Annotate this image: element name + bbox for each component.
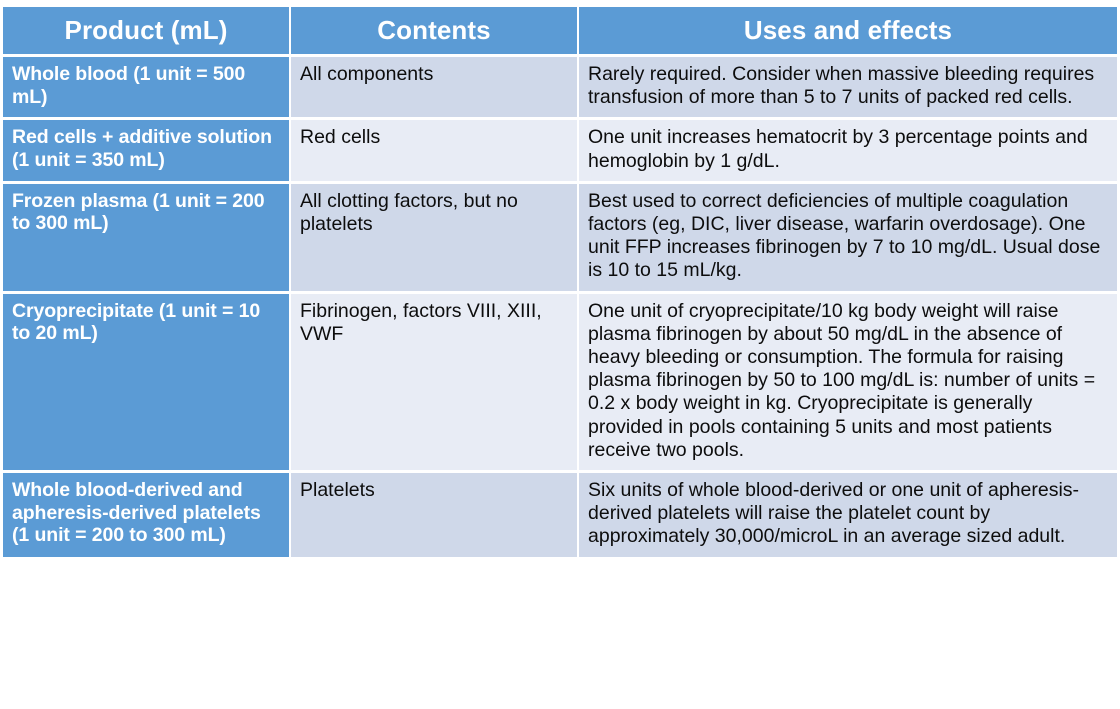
cell-contents: Fibrinogen, factors VIII, XIII, VWF [290,292,578,471]
table-header-row: Product (mL) Contents Uses and effects [3,7,1117,56]
column-header-uses: Uses and effects [578,7,1117,56]
cell-contents: Platelets [290,472,578,557]
table-row: Red cells + additive solution (1 unit = … [3,119,1117,182]
cell-uses: Best used to correct deficiencies of mul… [578,182,1117,292]
table-row: Cryoprecipitate (1 unit = 10 to 20 mL) F… [3,292,1117,471]
blood-products-table-container: Product (mL) Contents Uses and effects W… [3,7,1117,707]
cell-contents: All components [290,56,578,119]
cell-contents: Red cells [290,119,578,182]
cell-uses: Six units of whole blood-derived or one … [578,472,1117,557]
cell-uses: Rarely required. Consider when massive b… [578,56,1117,119]
cell-product: Cryoprecipitate (1 unit = 10 to 20 mL) [3,292,290,471]
column-header-product: Product (mL) [3,7,290,56]
cell-product: Red cells + additive solution (1 unit = … [3,119,290,182]
table-body: Whole blood (1 unit = 500 mL) All compon… [3,56,1117,557]
table-header: Product (mL) Contents Uses and effects [3,7,1117,56]
cell-product: Frozen plasma (1 unit = 200 to 300 mL) [3,182,290,292]
cell-uses: One unit of cryoprecipitate/10 kg body w… [578,292,1117,471]
cell-uses: One unit increases hematocrit by 3 perce… [578,119,1117,182]
cell-product: Whole blood-derived and apheresis-derive… [3,472,290,557]
cell-contents: All clotting factors, but no platelets [290,182,578,292]
blood-products-table: Product (mL) Contents Uses and effects W… [3,7,1117,557]
table-row: Whole blood (1 unit = 500 mL) All compon… [3,56,1117,119]
cell-product: Whole blood (1 unit = 500 mL) [3,56,290,119]
table-row: Whole blood-derived and apheresis-derive… [3,472,1117,557]
column-header-contents: Contents [290,7,578,56]
table-row: Frozen plasma (1 unit = 200 to 300 mL) A… [3,182,1117,292]
